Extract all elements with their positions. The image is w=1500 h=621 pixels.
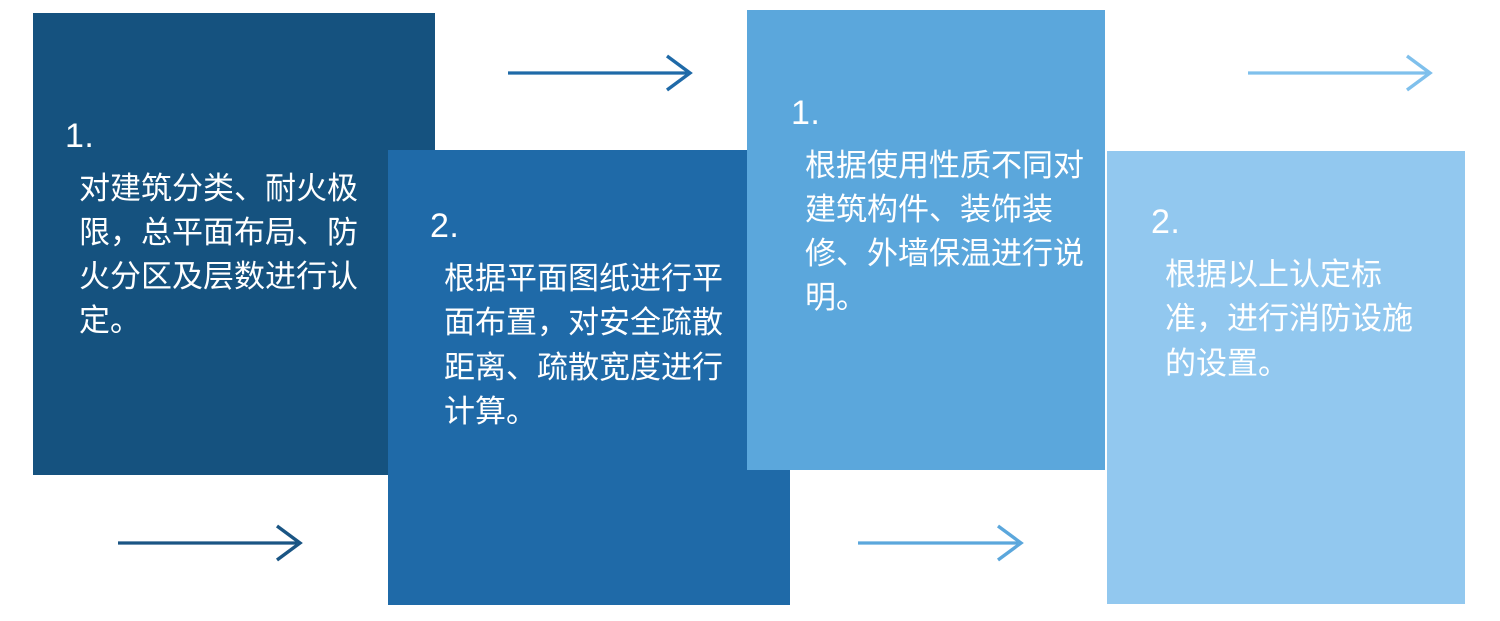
step-4-text: 根据以上认定标准，进行消防设施的设置。 [1165,253,1441,385]
process-step-box-4[interactable]: 2. 根据以上认定标准，进行消防设施的设置。 [1107,151,1465,604]
step-1-text: 对建筑分类、耐火极限，总平面布局、防火分区及层数进行认定。 [79,167,379,343]
flow-arrow-right-icon-1 [505,52,705,98]
step-4-content: 2. 根据以上认定标准，进行消防设施的设置。 [1107,205,1465,385]
process-step-box-2[interactable]: 2. 根据平面图纸进行平面布置，对安全疏散距离、疏散宽度进行计算。 [388,150,790,605]
flow-arrow-right-icon-4 [855,522,1045,568]
diagram-canvas: 1. 对建筑分类、耐火极限，总平面布局、防火分区及层数进行认定。 2. 根据平面… [0,0,1500,621]
flow-arrow-right-icon-3 [1245,52,1445,98]
process-step-box-1[interactable]: 1. 对建筑分类、耐火极限，总平面布局、防火分区及层数进行认定。 [33,13,435,475]
step-3-number: 1. [791,96,1085,130]
step-2-text: 根据平面图纸进行平面布置，对安全疏散距离、疏散宽度进行计算。 [444,257,744,433]
step-3-text: 根据使用性质不同对建筑构件、装饰装修、外墙保温进行说明。 [805,144,1085,320]
flow-arrow-right-icon-2 [115,522,315,568]
step-4-number: 2. [1151,205,1441,239]
step-1-content: 1. 对建筑分类、耐火极限，总平面布局、防火分区及层数进行认定。 [33,119,435,343]
step-2-number: 2. [430,209,762,243]
step-2-content: 2. 根据平面图纸进行平面布置，对安全疏散距离、疏散宽度进行计算。 [388,209,790,433]
step-1-number: 1. [65,119,407,153]
step-3-content: 1. 根据使用性质不同对建筑构件、装饰装修、外墙保温进行说明。 [747,96,1105,320]
process-step-box-3[interactable]: 1. 根据使用性质不同对建筑构件、装饰装修、外墙保温进行说明。 [747,10,1105,470]
